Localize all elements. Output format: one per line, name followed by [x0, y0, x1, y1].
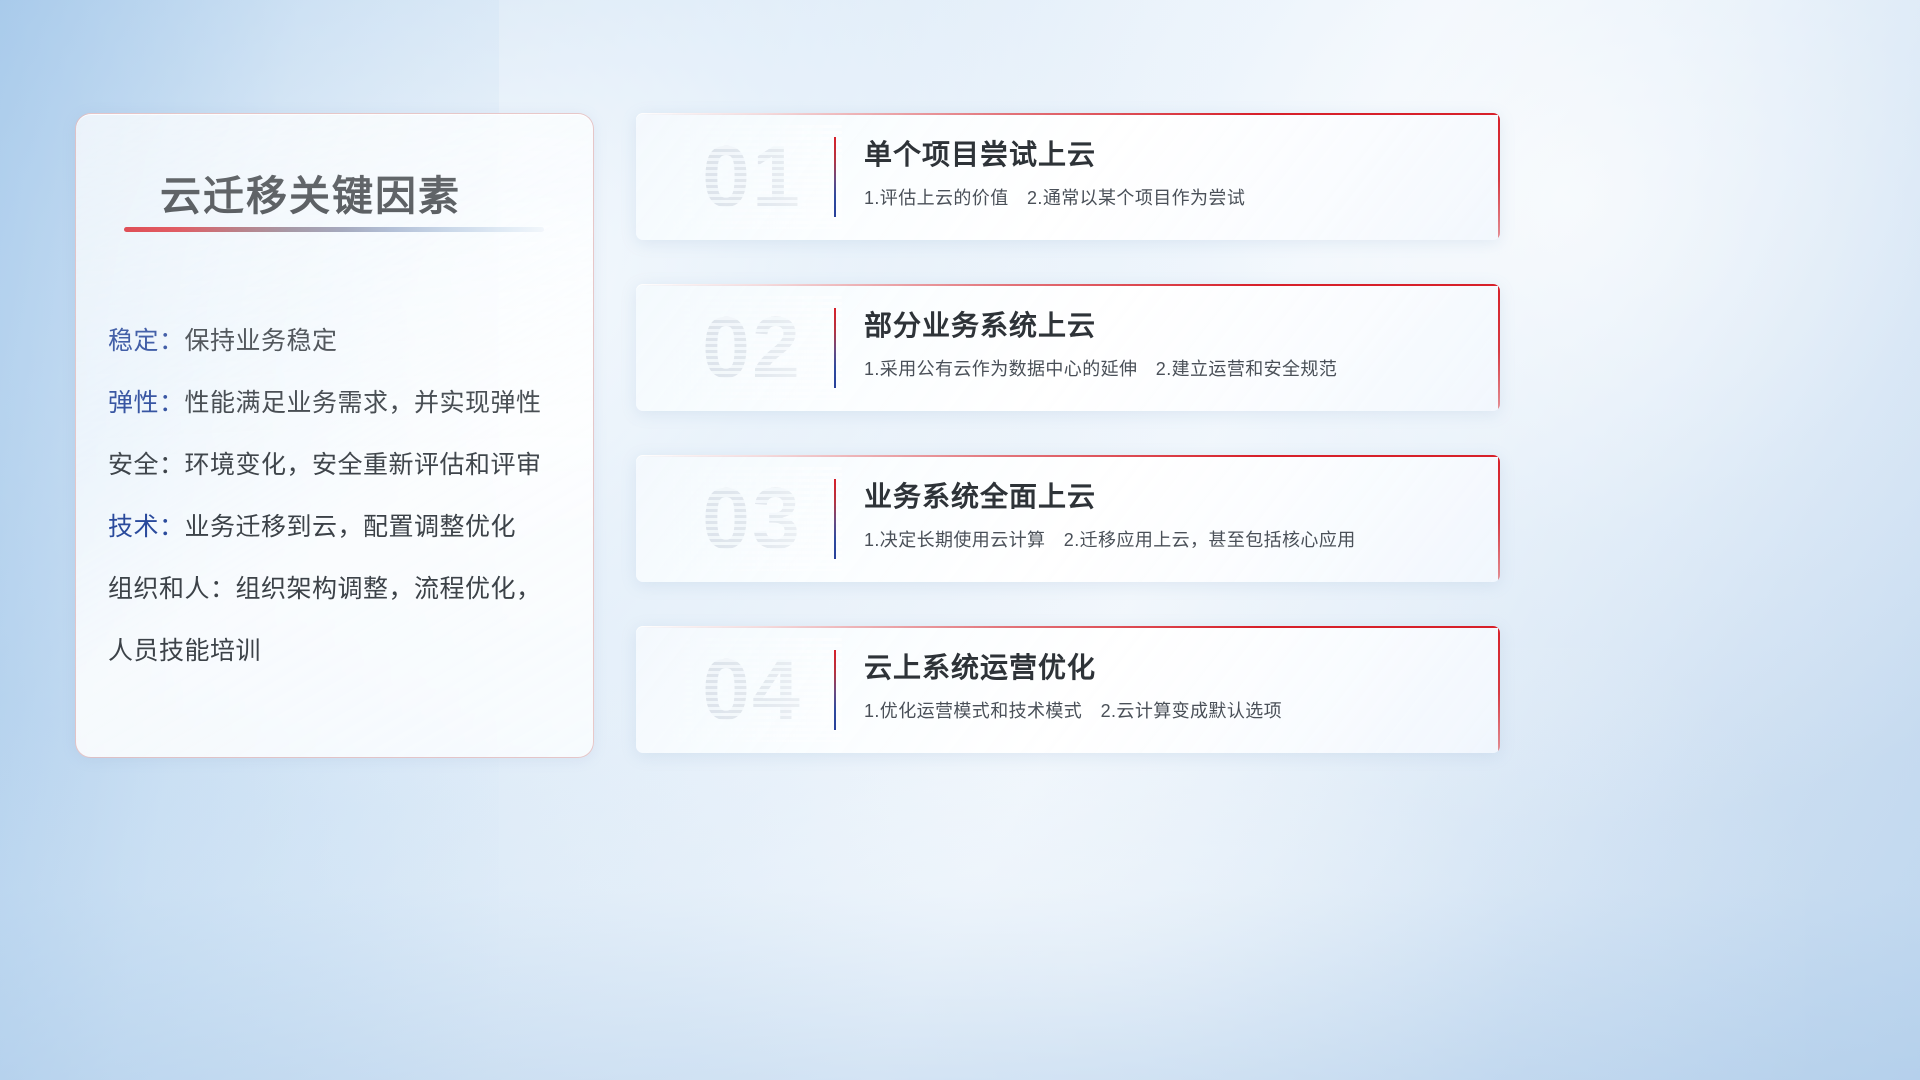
card-divider-bar [834, 650, 836, 730]
key-factors-panel: 云迁移关键因素 稳定：保持业务稳定 弹性：性能满足业务需求，并实现弹性 安全：环… [75, 113, 594, 758]
list-item-label: 技术： [108, 513, 185, 541]
card-title: 部分业务系统上云 [864, 306, 1476, 346]
stage-card-03[interactable]: 03 业务系统全面上云 1.决定长期使用云计算 2.迁移应用上云，甚至包括核心应… [636, 455, 1500, 582]
list-item-label: 安全： [108, 451, 185, 479]
list-item-label: 稳定： [108, 327, 185, 355]
list-item-text: 组织架构调整，流程优化， [236, 575, 542, 603]
card-divider-bar [834, 479, 836, 559]
list-item-text: 保持业务稳定 [185, 327, 338, 355]
card-title: 单个项目尝试上云 [864, 135, 1476, 175]
card-body: 云上系统运营优化 1.优化运营模式和技术模式 2.云计算变成默认选项 [864, 648, 1476, 724]
list-item-label: 弹性： [108, 389, 185, 417]
migration-stage-cards: 01 单个项目尝试上云 1.评估上云的价值 2.通常以某个项目作为尝试 02 部… [636, 113, 1500, 797]
card-number: 01 [662, 125, 842, 229]
title-underline-gradient [124, 227, 544, 232]
card-right-accent-line [1498, 626, 1500, 753]
card-body: 业务系统全面上云 1.决定长期使用云计算 2.迁移应用上云，甚至包括核心应用 [864, 477, 1476, 553]
card-description: 1.优化运营模式和技术模式 2.云计算变成默认选项 [864, 698, 1476, 724]
stage-card-02[interactable]: 02 部分业务系统上云 1.采用公有云作为数据中心的延伸 2.建立运营和安全规范 [636, 284, 1500, 411]
card-right-accent-line [1498, 284, 1500, 411]
card-top-accent-line [636, 113, 1500, 115]
list-item: 技术：业务迁移到云，配置调整优化 [108, 496, 575, 558]
stage-card-04[interactable]: 04 云上系统运营优化 1.优化运营模式和技术模式 2.云计算变成默认选项 [636, 626, 1500, 753]
card-top-accent-line [636, 455, 1500, 457]
list-item-text: 业务迁移到云，配置调整优化 [185, 513, 517, 541]
card-top-accent-line [636, 626, 1500, 628]
stage-card-01[interactable]: 01 单个项目尝试上云 1.评估上云的价值 2.通常以某个项目作为尝试 [636, 113, 1500, 240]
card-right-accent-line [1498, 113, 1500, 240]
list-item: 安全：环境变化，安全重新评估和评审 [108, 434, 575, 496]
card-description: 1.决定长期使用云计算 2.迁移应用上云，甚至包括核心应用 [864, 527, 1476, 553]
card-title: 云上系统运营优化 [864, 648, 1476, 688]
card-number: 02 [662, 296, 842, 400]
list-item-text: 性能满足业务需求，并实现弹性 [185, 389, 542, 417]
panel-title: 云迁移关键因素 [160, 162, 461, 222]
card-body: 部分业务系统上云 1.采用公有云作为数据中心的延伸 2.建立运营和安全规范 [864, 306, 1476, 382]
key-factors-list: 稳定：保持业务稳定 弹性：性能满足业务需求，并实现弹性 安全：环境变化，安全重新… [108, 310, 575, 682]
list-item: 人员技能培训 [108, 620, 575, 682]
card-right-accent-line [1498, 455, 1500, 582]
card-top-accent-line [636, 284, 1500, 286]
card-divider-bar [834, 137, 836, 217]
card-divider-bar [834, 308, 836, 388]
list-item-text: 人员技能培训 [108, 637, 261, 665]
list-item-text: 环境变化，安全重新评估和评审 [185, 451, 542, 479]
list-item-label: 组织和人： [108, 575, 236, 603]
card-description: 1.采用公有云作为数据中心的延伸 2.建立运营和安全规范 [864, 356, 1476, 382]
card-description: 1.评估上云的价值 2.通常以某个项目作为尝试 [864, 185, 1476, 211]
card-number: 03 [662, 467, 842, 571]
list-item: 组织和人：组织架构调整，流程优化， [108, 558, 575, 620]
list-item: 稳定：保持业务稳定 [108, 310, 575, 372]
card-body: 单个项目尝试上云 1.评估上云的价值 2.通常以某个项目作为尝试 [864, 135, 1476, 211]
card-title: 业务系统全面上云 [864, 477, 1476, 517]
card-number: 04 [662, 638, 842, 742]
list-item: 弹性：性能满足业务需求，并实现弹性 [108, 372, 575, 434]
slide-stage: 云迁移关键因素 稳定：保持业务稳定 弹性：性能满足业务需求，并实现弹性 安全：环… [0, 0, 1920, 1080]
